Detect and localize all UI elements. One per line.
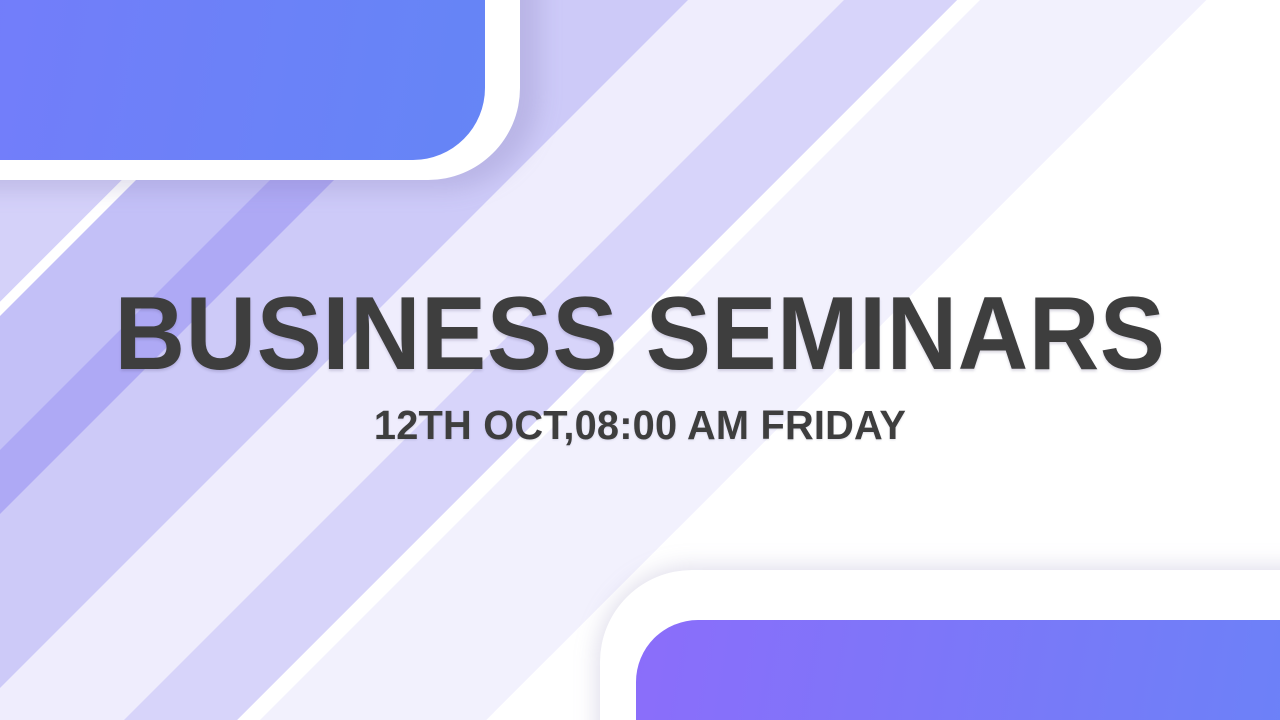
top-left-gradient-block xyxy=(0,0,485,160)
bottom-right-gradient-block xyxy=(636,620,1280,720)
event-poster: BUSINESS SEMINARS 12TH OCT,08:00 AM FRID… xyxy=(0,0,1280,720)
